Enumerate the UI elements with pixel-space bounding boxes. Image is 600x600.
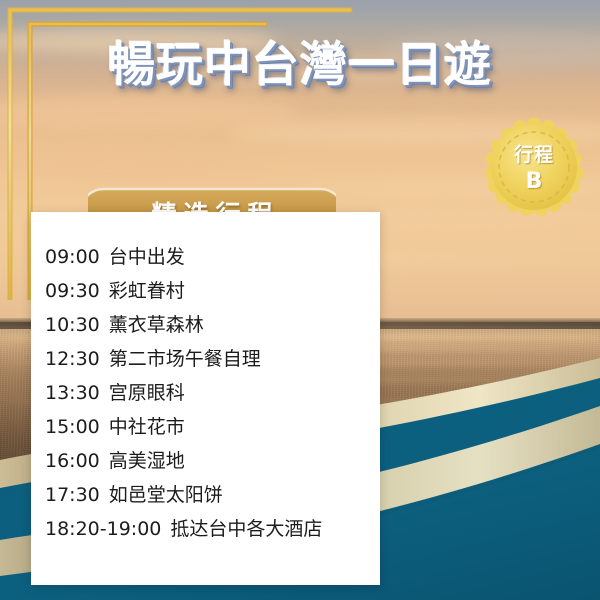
itinerary-description: 中社花市 [109, 416, 185, 438]
badge-value: B [526, 169, 543, 194]
itinerary-poster: 暢玩中台灣一日遊 [0, 0, 600, 600]
itinerary-time: 18:20-19:00 [45, 518, 161, 540]
itinerary-time: 09:00 [45, 246, 100, 268]
itinerary-time: 16:00 [45, 450, 100, 472]
itinerary-list: 09:00台中出发09:30彩虹眷村10:30薰衣草森林12:30第二市场午餐自… [31, 212, 380, 554]
itinerary-description: 薰衣草森林 [109, 314, 204, 336]
itinerary-row: 12:30第二市场午餐自理 [37, 350, 380, 369]
itinerary-description: 彩虹眷村 [109, 280, 185, 302]
itinerary-row: 18:20-19:00抵达台中各大酒店 [37, 520, 380, 539]
itinerary-row: 09:30彩虹眷村 [37, 282, 380, 301]
itinerary-description: 第二市场午餐自理 [109, 348, 261, 370]
page-title: 暢玩中台灣一日遊 [0, 26, 600, 95]
itinerary-time: 13:30 [45, 382, 100, 404]
itinerary-time: 09:30 [45, 280, 100, 302]
itinerary-time: 10:30 [45, 314, 100, 336]
itinerary-time: 15:00 [45, 416, 100, 438]
itinerary-row: 10:30薰衣草森林 [37, 316, 380, 335]
itinerary-row: 15:00中社花市 [37, 418, 380, 437]
itinerary-description: 台中出发 [109, 246, 185, 268]
itinerary-description: 抵达台中各大酒店 [170, 518, 322, 540]
route-badge: 行程 B [485, 118, 583, 216]
itinerary-time: 17:30 [45, 484, 100, 506]
itinerary-row: 09:00台中出发 [37, 248, 380, 267]
itinerary-time: 12:30 [45, 348, 100, 370]
itinerary-row: 17:30如邑堂太阳饼 [37, 486, 380, 505]
itinerary-description: 宫原眼科 [109, 382, 185, 404]
itinerary-description: 高美湿地 [109, 450, 185, 472]
itinerary-card: 09:00台中出发09:30彩虹眷村10:30薰衣草森林12:30第二市场午餐自… [31, 212, 380, 585]
badge-label: 行程 [514, 140, 554, 167]
badge-text-group: 行程 B [485, 118, 583, 216]
itinerary-description: 如邑堂太阳饼 [109, 484, 223, 506]
itinerary-row: 13:30宫原眼科 [37, 384, 380, 403]
itinerary-row: 16:00高美湿地 [37, 452, 380, 471]
